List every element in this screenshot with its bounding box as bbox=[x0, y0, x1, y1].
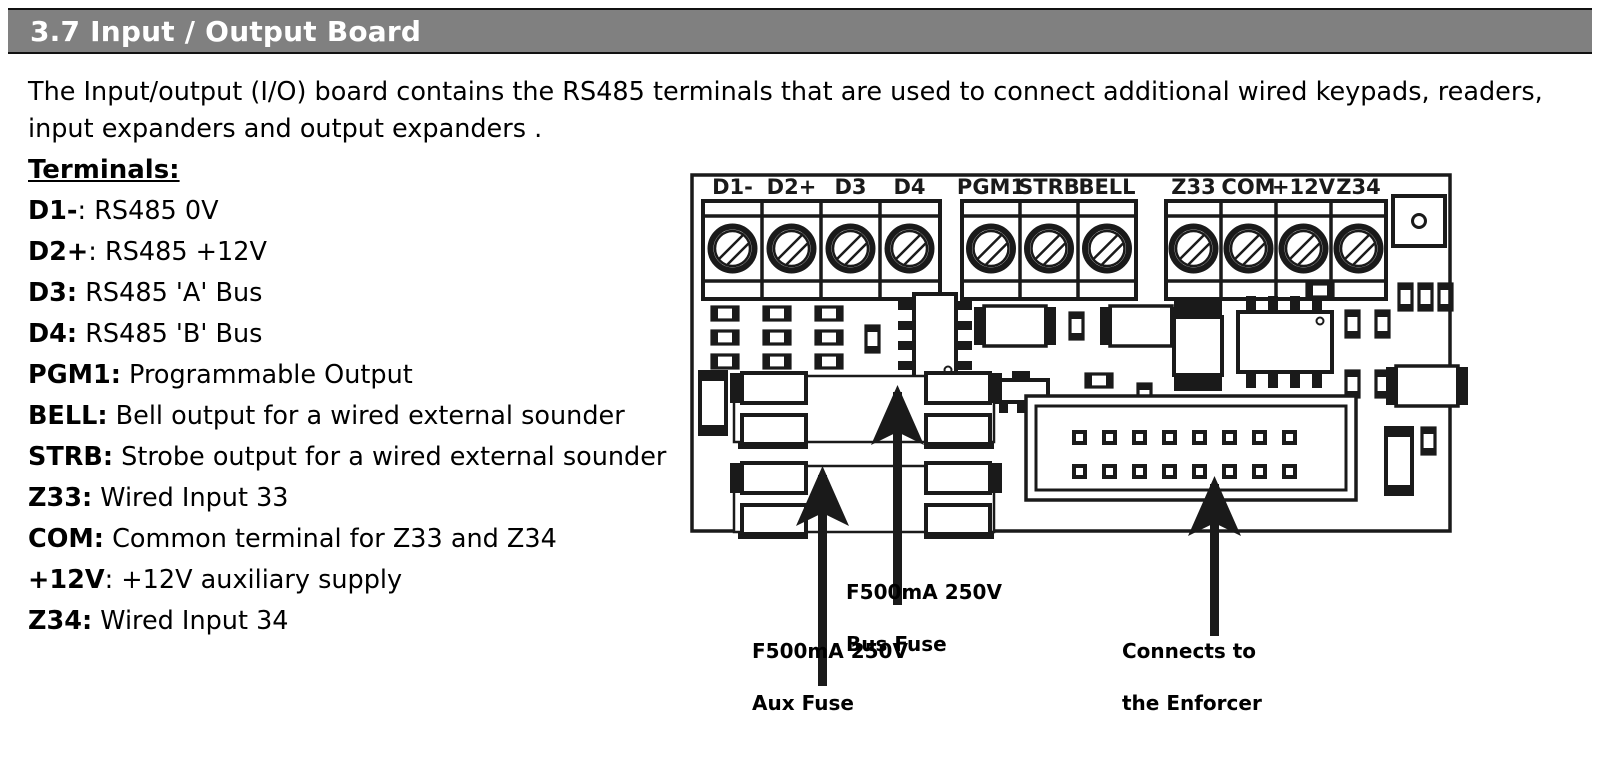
intro-paragraph: The Input/output (I/O) board contains th… bbox=[28, 74, 1548, 148]
terminal-item-name: Z34: bbox=[28, 606, 92, 636]
terminal-label-z33: Z33 bbox=[1171, 175, 1215, 199]
io-board-diagram: D1- D2+ D3 D4 PGM1 STRB BELL Z33 COM +12… bbox=[686, 166, 1476, 686]
terminals-heading: Terminals: bbox=[28, 151, 678, 189]
terminal-item: D4: RS485 'B' Bus bbox=[28, 314, 678, 355]
annotation-enforcer-line2: the Enforcer bbox=[1122, 690, 1262, 716]
annotation-aux-fuse-line2: Aux Fuse bbox=[752, 690, 908, 716]
terminal-item-description: Strobe output for a wired external sound… bbox=[113, 442, 666, 472]
terminal-item-name: +12V bbox=[28, 565, 105, 595]
section-heading-bar: 3.7 Input / Output Board bbox=[8, 8, 1592, 54]
terminal-item: D2+: RS485 +12V bbox=[28, 232, 678, 273]
terminal-label-+12v: +12V bbox=[1272, 175, 1336, 199]
annotation-bus-fuse-line2: Bus Fuse bbox=[846, 631, 1002, 657]
terminal-label-d4: D4 bbox=[893, 175, 925, 199]
fuse-holder-bus bbox=[730, 373, 1002, 449]
terminal-label-pgm1: PGM1 bbox=[957, 175, 1025, 199]
terminal-item-name: D2+ bbox=[28, 237, 88, 267]
terminal-label-d1-: D1- bbox=[712, 175, 753, 199]
terminal-item: D3: RS485 'A' Bus bbox=[28, 273, 678, 314]
terminal-item-name: BELL: bbox=[28, 401, 108, 431]
terminal-label-d2+: D2+ bbox=[767, 175, 817, 199]
fuse-holder-aux bbox=[730, 463, 1002, 539]
annotation-bus-fuse-line1: F500mA 250V bbox=[846, 579, 1002, 605]
terminal-item: BELL: Bell output for a wired external s… bbox=[28, 396, 678, 437]
terminal-block-2: PGM1 STRB BELL bbox=[957, 175, 1136, 299]
terminal-item: +12V: +12V auxiliary supply bbox=[28, 560, 678, 601]
terminal-item-name: D1- bbox=[28, 196, 78, 226]
body-text-column: The Input/output (I/O) board contains th… bbox=[28, 74, 678, 642]
terminal-item-description: +12V auxiliary supply bbox=[113, 565, 402, 595]
terminal-item: D1-: RS485 0V bbox=[28, 191, 678, 232]
annotation-enforcer-line1: Connects to bbox=[1122, 638, 1262, 664]
mounting-hole-pad bbox=[1393, 196, 1445, 246]
edge-capacitor-left bbox=[700, 372, 726, 434]
terminal-block-3: Z33 COM +12V Z34 bbox=[1166, 175, 1386, 299]
terminal-item-name: STRB: bbox=[28, 442, 113, 472]
terminal-label-bell: BELL bbox=[1078, 175, 1135, 199]
terminal-label-com: COM bbox=[1221, 175, 1275, 199]
terminal-item-description: Programmable Output bbox=[121, 360, 413, 390]
terminal-item-description: RS485 'B' Bus bbox=[77, 319, 262, 349]
terminal-item-name: D3: bbox=[28, 278, 77, 308]
terminal-item-description: RS485 +12V bbox=[97, 237, 267, 267]
idc-ribbon-connector bbox=[1026, 396, 1356, 500]
terminal-label-z34: Z34 bbox=[1336, 175, 1380, 199]
terminal-item-name: D4: bbox=[28, 319, 77, 349]
terminal-item-name: Z33: bbox=[28, 483, 92, 513]
terminal-definition-list: D1-: RS485 0VD2+: RS485 +12VD3: RS485 'A… bbox=[28, 191, 678, 642]
terminal-item-description: Bell output for a wired external sounder bbox=[108, 401, 625, 431]
terminal-label-d3: D3 bbox=[834, 175, 866, 199]
terminal-item: STRB: Strobe output for a wired external… bbox=[28, 437, 678, 478]
terminal-item: PGM1: Programmable Output bbox=[28, 355, 678, 396]
terminal-item-name: COM: bbox=[28, 524, 104, 554]
annotation-bus-fuse: F500mA 250V Bus Fuse bbox=[846, 553, 1002, 683]
terminal-item-description: RS485 'A' Bus bbox=[77, 278, 262, 308]
annotation-enforcer: Connects to the Enforcer bbox=[1122, 612, 1262, 742]
electrolytic-cap-vertical bbox=[1174, 301, 1222, 391]
terminal-item: Z33: Wired Input 33 bbox=[28, 478, 678, 519]
terminal-item-description: Common terminal for Z33 and Z34 bbox=[104, 524, 557, 554]
terminal-item-separator: : bbox=[78, 196, 87, 226]
terminal-item-description: Wired Input 34 bbox=[92, 606, 288, 636]
terminal-item: Z34: Wired Input 34 bbox=[28, 601, 678, 642]
terminal-item-description: Wired Input 33 bbox=[92, 483, 288, 513]
page-title: 3.7 Input / Output Board bbox=[8, 15, 421, 48]
terminal-item: COM: Common terminal for Z33 and Z34 bbox=[28, 519, 678, 560]
terminal-item-separator: : bbox=[88, 237, 97, 267]
terminal-label-strb: STRB bbox=[1018, 175, 1080, 199]
terminal-item-separator: : bbox=[105, 565, 114, 595]
terminal-item-description: RS485 0V bbox=[86, 196, 218, 226]
terminal-item-name: PGM1: bbox=[28, 360, 121, 390]
